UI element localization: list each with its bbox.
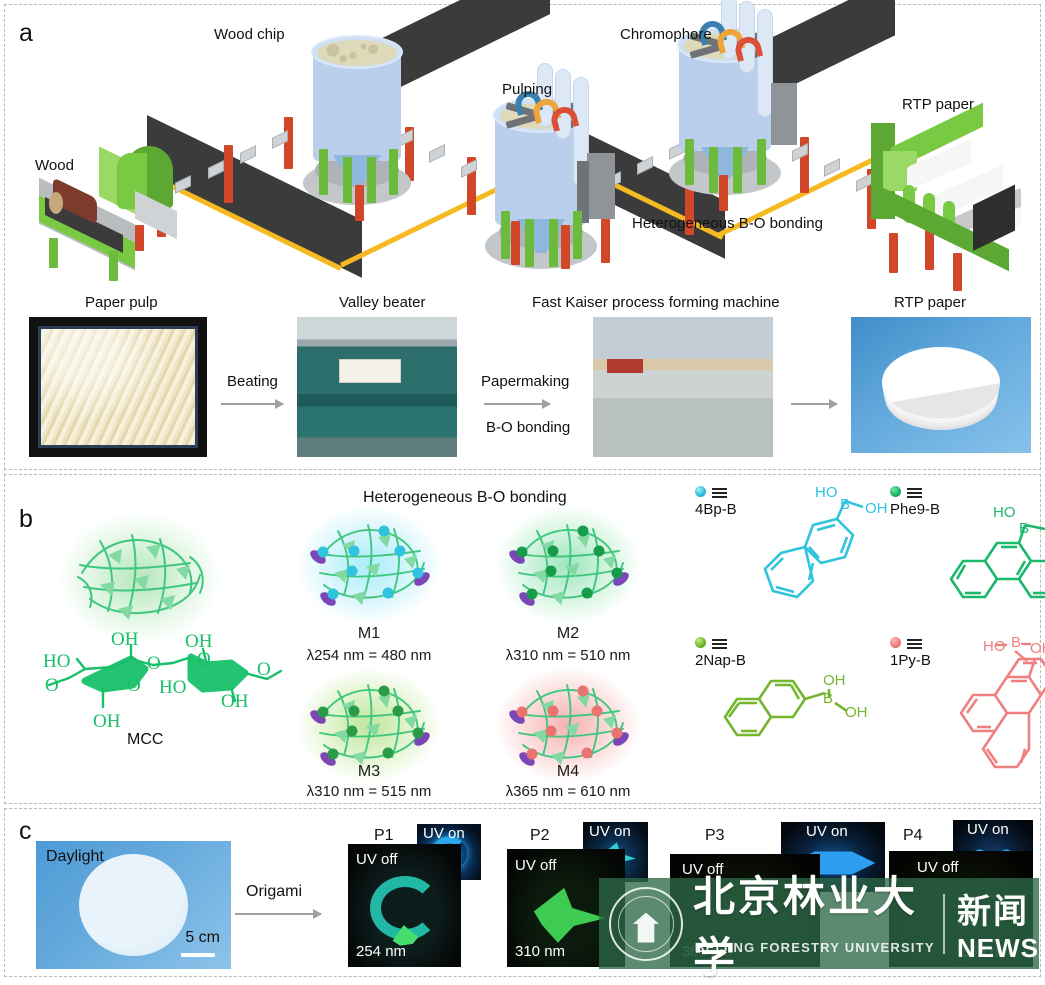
photo-kaiser-machine (593, 317, 773, 457)
chem-structure-phe9: HO B OH (925, 495, 1045, 630)
control-cabinet (771, 83, 797, 145)
arrow-papermaking (484, 403, 550, 405)
panel-c-letter: c (19, 817, 32, 846)
silo-leg (757, 139, 766, 185)
silo-leg-red (719, 175, 728, 211)
svg-text:HO: HO (983, 638, 1006, 655)
sample-label-p2: P2 (530, 827, 550, 845)
daylight-label: Daylight (46, 848, 104, 866)
figure-root: a (0, 0, 1045, 981)
legend-dot-1py (890, 637, 901, 648)
silo-leg (573, 211, 582, 259)
legend-equals-icon-1py (907, 639, 922, 652)
sample-label-p4: P4 (903, 827, 923, 845)
uv-on-text-p2: UV on (589, 823, 631, 840)
arrow-label-beating: Beating (227, 373, 278, 390)
scale-label: 5 cm (185, 929, 220, 947)
svg-text:O: O (257, 659, 271, 680)
model-name-m1: M1 (298, 625, 440, 643)
silo-contents-chips (317, 40, 397, 66)
chem-structure-4bp: HO B OH (741, 483, 901, 628)
svg-text:O: O (147, 653, 161, 674)
panel-b-heading: Heterogeneous B-O bonding (363, 489, 567, 507)
model-lambda-m1: λ254 nm = 480 nm (288, 647, 450, 664)
photo-valley-beater (297, 317, 457, 457)
control-cabinet (587, 153, 615, 219)
legend-dot-2nap (695, 637, 706, 648)
silo-leg-red (511, 221, 520, 265)
watermark-university-en: BEIJING FORESTRY UNIVERSITY (695, 940, 935, 955)
origami-arrow-label: Origami (246, 883, 302, 901)
watermark-university-cn: 北京林业大学 (693, 863, 931, 985)
cluster-m1 (298, 507, 440, 623)
model-lambda-m4: λ365 nm = 610 nm (487, 783, 649, 800)
svg-text:B: B (1011, 634, 1021, 651)
model-name-m3: M3 (298, 763, 440, 781)
uv-off-text-p1: UV off (356, 851, 397, 868)
uv-on-text-p1: UV on (423, 825, 465, 842)
svg-text:B: B (1019, 520, 1029, 537)
origami-arrow (235, 913, 321, 915)
cluster-m2 (497, 507, 639, 623)
belt-leg (284, 117, 293, 169)
svg-text:O: O (45, 675, 59, 696)
belt-package (429, 144, 445, 163)
photo-rtp-paper (851, 317, 1031, 453)
arrow-label-papermaking: Papermaking (481, 373, 569, 390)
silo-leg (709, 147, 718, 193)
chem-label-4bp: 4Bp-B (695, 501, 737, 518)
svg-text:B: B (840, 496, 850, 513)
svg-text:HO: HO (159, 677, 186, 698)
photo-caption-valley-beater: Valley beater (339, 294, 425, 311)
rtp-paper-disc (882, 347, 1001, 418)
svg-text:O: O (197, 649, 211, 670)
silo-leg (525, 219, 534, 267)
silo-leg (501, 211, 510, 259)
svg-text:OH: OH (93, 711, 121, 732)
model-name-m2: M2 (497, 625, 639, 643)
uv-on-text-p3: UV on (806, 823, 848, 840)
wavelength-text-p1: 254 nm (356, 943, 406, 960)
wood-log-end (49, 192, 63, 214)
photo-daylight-paper: Daylight 5 cm (36, 841, 231, 969)
panel-b-letter: b (19, 505, 33, 534)
model-name-m4: M4 (497, 763, 639, 781)
silo-leg (685, 139, 694, 185)
silo-leg (549, 219, 558, 267)
photo-paper-pulp (29, 317, 207, 457)
mcc-label: MCC (127, 731, 163, 749)
photo-caption-rtp-paper: RTP paper (894, 294, 966, 311)
cellulose-mesh-m2 (497, 507, 639, 623)
silo-leg (319, 149, 328, 195)
label-heterogeneous-bonding: Heterogeneous B-O bonding (632, 215, 823, 232)
legend-dot-4bp (695, 486, 706, 497)
svg-text:HO: HO (43, 651, 70, 672)
label-chromophore: Chromophore (620, 26, 712, 43)
silo-leg (733, 147, 742, 193)
watermark-news-en: NEWS (957, 933, 1039, 964)
svg-text:OH: OH (845, 704, 868, 721)
belt-leg (224, 145, 233, 203)
svg-text:OH: OH (865, 500, 888, 517)
machine-leg (49, 238, 58, 268)
uv-on-text-p4: UV on (967, 821, 1009, 838)
silo-leg-red (561, 225, 570, 269)
legend-equals-icon-4bp (712, 488, 727, 501)
origami-crane-p2 (526, 887, 606, 943)
model-lambda-m2: λ310 nm = 510 nm (487, 647, 649, 664)
chem-label-1py: 1Py-B (890, 652, 931, 669)
photo-caption-kaiser: Fast Kaiser process forming machine (532, 294, 780, 311)
svg-text:HO: HO (815, 484, 838, 501)
silo-leg (343, 157, 352, 203)
svg-text:OH: OH (1030, 640, 1045, 657)
silo-leg-red (355, 185, 364, 221)
cellulose-mesh-m1 (298, 507, 440, 623)
silo-leg (367, 157, 376, 203)
machine-leg (135, 225, 144, 251)
chem-structure-1py: HO OH B (935, 633, 1045, 783)
daylight-paper-disc (79, 854, 188, 956)
model-lambda-m3: λ310 nm = 515 nm (288, 783, 450, 800)
legend-dot-phe9 (890, 486, 901, 497)
label-wood-chip: Wood chip (214, 26, 285, 43)
chem-structure-2nap: OH B OH (705, 665, 875, 780)
photo-caption-paper-pulp: Paper pulp (85, 294, 158, 311)
watermark-divider (943, 894, 945, 954)
mill-diagram: Wood Wood chip Pulping Chromophore RTP p… (5, 5, 1042, 295)
arrow-label-bo-bonding: B-O bonding (486, 419, 570, 436)
panel-b: b Heterogeneous B-O bonding (4, 474, 1041, 804)
university-seal-icon (609, 887, 683, 961)
svg-text:O: O (127, 675, 141, 696)
panel-a: a (4, 4, 1041, 470)
panel-c: c Daylight 5 cm Origami P1 UV on UV off … (4, 808, 1041, 977)
watermark-overlay: 北京林业大学 新闻 NEWS BEIJING FORESTRY UNIVERSI… (599, 878, 1039, 969)
label-rtp-paper-diagram: RTP paper (902, 96, 974, 113)
arrow-to-rtp (791, 403, 837, 405)
watermark-news-block: 新闻 NEWS (957, 884, 1039, 964)
arrow-beating (221, 403, 283, 405)
silo-leg (389, 149, 398, 195)
label-pulping: Pulping (502, 81, 552, 98)
svg-text:OH: OH (221, 691, 249, 712)
svg-text:HO: HO (993, 504, 1016, 521)
mcc-structure: OH HO O O O OH OH O HO OH O (35, 623, 285, 743)
machine-leg (953, 253, 962, 291)
wavelength-text-p2: 310 nm (515, 943, 565, 960)
scale-bar (181, 953, 215, 957)
watermark-news-cn: 新闻 (957, 884, 1029, 933)
legend-equals-icon-2nap (712, 639, 727, 652)
svg-text:OH: OH (111, 629, 139, 650)
belt-package (240, 145, 256, 164)
svg-text:OH: OH (823, 672, 846, 689)
uv-off-text-p2: UV off (515, 857, 556, 874)
machine-leg (889, 233, 898, 273)
sample-label-p3: P3 (705, 827, 725, 845)
legend-equals-icon-phe9 (907, 488, 922, 501)
machine-leg (109, 251, 118, 281)
silo-body (313, 53, 401, 161)
sample-label-p1: P1 (374, 827, 394, 845)
label-wood: Wood (35, 157, 74, 174)
